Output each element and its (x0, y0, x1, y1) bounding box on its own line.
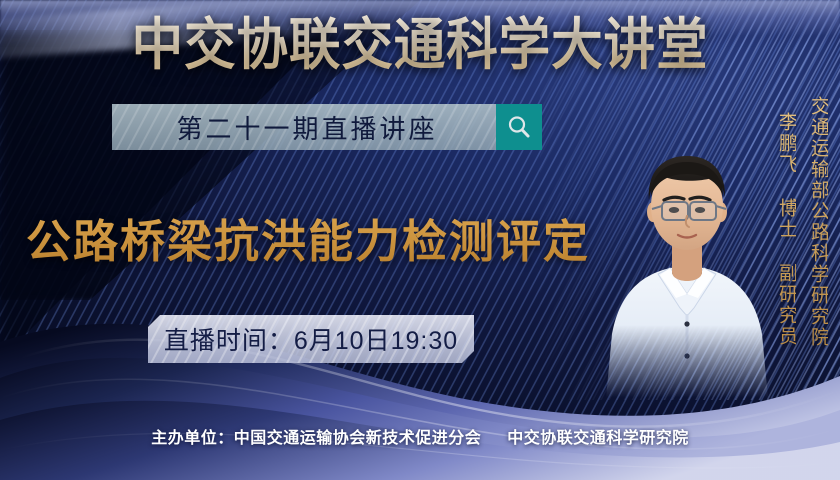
footer-organizers: 主办单位：中国交通运输协会新技术促进分会中交协联交通科学研究院 (0, 424, 840, 448)
speaker-portrait (602, 138, 772, 398)
search-icon (505, 113, 533, 141)
lecture-title: 公路桥梁抗洪能力检测评定 (26, 205, 590, 270)
speaker-name-title: 李鹏飞 博士 副研究员 (777, 112, 796, 347)
broadcast-time-text: 直播时间：6月10日19:30 (164, 321, 458, 357)
footer-org-1: 中国交通运输协会新技术促进分会 (234, 430, 482, 447)
live-lecture-poster: 中交协联交通科学大讲堂 第二十一期直播讲座 公路桥梁抗洪能力检测评定 直播时间：… (0, 0, 840, 480)
search-icon-button[interactable] (496, 104, 542, 150)
series-bar: 第二十一期直播讲座 (112, 104, 542, 150)
footer-prefix: 主办单位： (151, 430, 234, 447)
broadcast-time-badge: 直播时间：6月10日19:30 (148, 315, 474, 363)
footer-org-2: 中交协联交通科学研究院 (507, 430, 689, 447)
speaker-organization: 交通运输部公路科学研究院 (809, 96, 828, 348)
series-label: 第二十一期直播讲座 (112, 109, 496, 146)
page-title: 中交协联交通科学大讲堂 (34, 12, 807, 78)
